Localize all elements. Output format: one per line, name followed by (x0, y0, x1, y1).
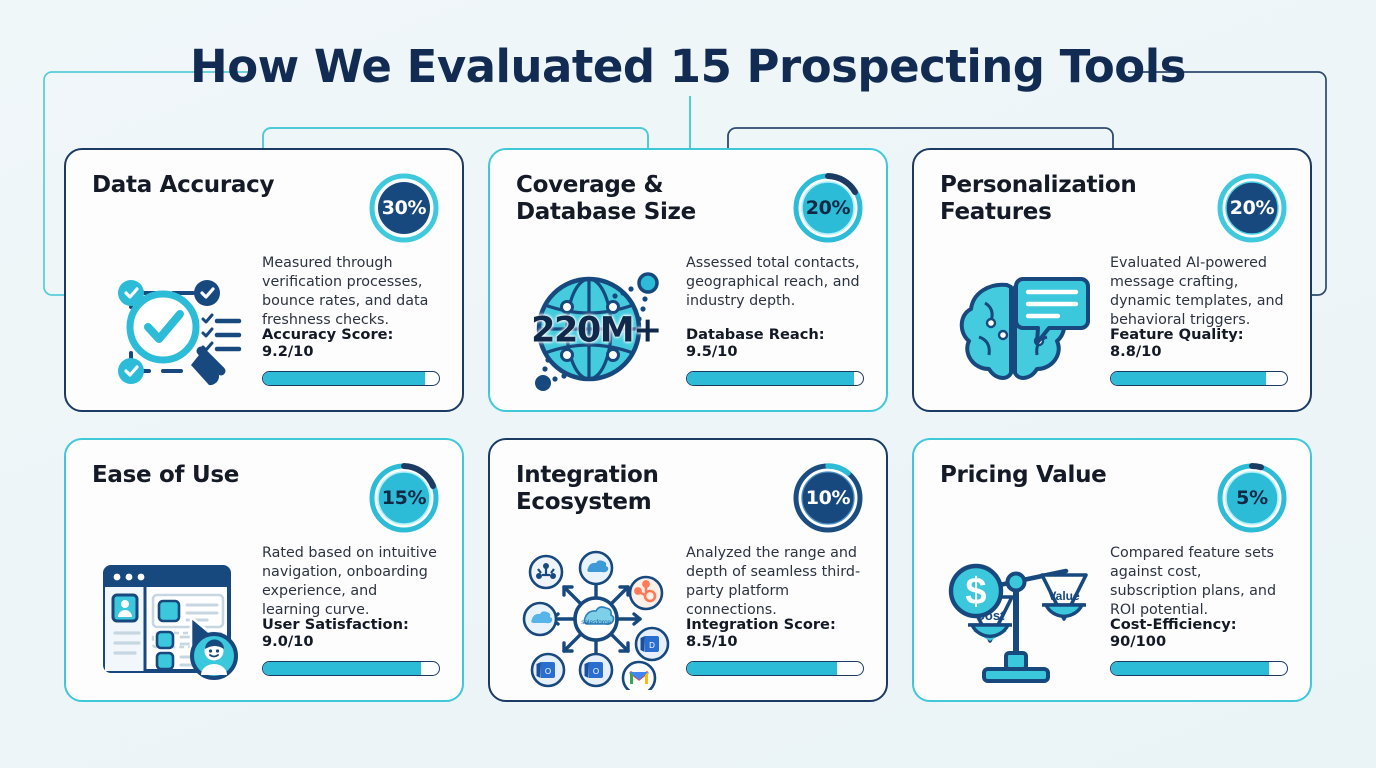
score-label: Cost-Efficiency: 90/100 (1110, 616, 1288, 650)
weight-badge: 20% (792, 172, 864, 244)
card-body: salesforce D (516, 544, 864, 684)
weight-label: 10% (792, 462, 864, 534)
weight-badge: 15% (368, 462, 440, 534)
weight-label: 5% (1216, 462, 1288, 534)
criteria-card-integration-ecosystem[interactable]: Integration Ecosystem 10% (488, 438, 888, 702)
card-body: Rated based on intuitive navigation, onb… (92, 544, 440, 684)
infographic-root: How We Evaluated 15 Prospecting Tools Da… (0, 0, 1376, 768)
integration-hub-icon: salesforce D (516, 546, 676, 692)
svg-text:O: O (593, 667, 599, 676)
weight-label: 20% (792, 172, 864, 244)
svg-text:salesforce: salesforce (581, 619, 611, 626)
card-body: Measured through verification processes,… (92, 254, 440, 394)
brain-message-icon (940, 256, 1100, 402)
criteria-card-ease-of-use[interactable]: Ease of Use 15% (64, 438, 464, 702)
score-progress-fill (687, 372, 854, 385)
weight-label: 20% (1216, 172, 1288, 244)
score-label: Feature Quality: 8.8/10 (1110, 326, 1288, 360)
card-description: Measured through verification processes,… (262, 254, 440, 331)
dashboard-user-icon (92, 546, 252, 692)
card-description: Evaluated AI-powered message crafting, d… (1110, 254, 1288, 331)
weight-badge: 5% (1216, 462, 1288, 534)
card-description: Compared feature sets against cost, subs… (1110, 544, 1288, 621)
score-progress-fill (687, 662, 837, 675)
weight-label: 15% (368, 462, 440, 534)
scale-right-label: Value (1048, 589, 1080, 603)
card-text: Compared feature sets against cost, subs… (1100, 544, 1288, 684)
card-description: Rated based on intuitive navigation, onb… (262, 544, 440, 621)
page-title: How We Evaluated 15 Prospecting Tools (0, 40, 1376, 93)
score-progress-fill (1111, 662, 1269, 675)
criteria-card-data-accuracy[interactable]: Data Accuracy 30% (64, 148, 464, 412)
card-title: Personalization Features (940, 172, 1205, 225)
weight-badge: 10% (792, 462, 864, 534)
card-text: Evaluated AI-powered message crafting, d… (1100, 254, 1288, 394)
weight-badge: 30% (368, 172, 440, 244)
score-label: Accuracy Score: 9.2/10 (262, 326, 440, 360)
svg-text:D: D (649, 641, 655, 650)
card-title: Integration Ecosystem (516, 462, 781, 515)
score-progress-bar (1110, 661, 1288, 676)
score-label: Database Reach: 9.5/10 (686, 326, 864, 360)
criteria-card-coverage-database-size[interactable]: Coverage & Database Size 20% (488, 148, 888, 412)
weight-label: 30% (368, 172, 440, 244)
svg-text:$: $ (965, 571, 986, 613)
card-body: Cost Value $ Compared feature sets again… (940, 544, 1288, 684)
card-title: Data Accuracy (92, 172, 357, 199)
score-progress-bar (686, 661, 864, 676)
card-body: Evaluated AI-powered message crafting, d… (940, 254, 1288, 394)
magnifier-check-icon (92, 256, 252, 402)
globe-network-icon: 220M+ (516, 256, 676, 402)
card-description: Analyzed the range and depth of seamless… (686, 544, 864, 621)
score-label: Integration Score: 8.5/10 (686, 616, 864, 650)
score-progress-bar (686, 371, 864, 386)
score-progress-fill (263, 372, 425, 385)
score-label: User Satisfaction: 9.0/10 (262, 616, 440, 650)
card-title: Pricing Value (940, 462, 1205, 489)
card-text: Rated based on intuitive navigation, onb… (252, 544, 440, 684)
score-progress-bar (262, 661, 440, 676)
score-progress-fill (1111, 372, 1266, 385)
criteria-card-pricing-value[interactable]: Pricing Value 5% (912, 438, 1312, 702)
score-progress-bar (1110, 371, 1288, 386)
score-progress-fill (263, 662, 421, 675)
criteria-grid: Data Accuracy 30% (64, 148, 1312, 702)
balance-scale-icon: Cost Value $ (940, 546, 1100, 692)
card-text: Analyzed the range and depth of seamless… (676, 544, 864, 684)
svg-text:O: O (545, 667, 551, 676)
card-description: Assessed total contacts, geographical re… (686, 254, 864, 311)
card-text: Assessed total contacts, geographical re… (676, 254, 864, 394)
card-title: Coverage & Database Size (516, 172, 781, 225)
criteria-card-personalization-features[interactable]: Personalization Features 20% (912, 148, 1312, 412)
card-body: 220M+ Assessed total contacts, geographi… (516, 254, 864, 394)
card-title: Ease of Use (92, 462, 357, 489)
card-text: Measured through verification processes,… (252, 254, 440, 394)
score-progress-bar (262, 371, 440, 386)
weight-badge: 20% (1216, 172, 1288, 244)
